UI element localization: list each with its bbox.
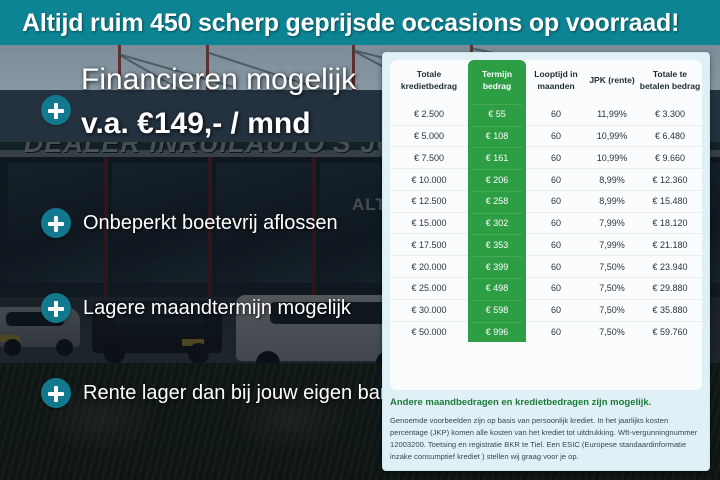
cell-looptijd: 60 — [526, 147, 586, 169]
plus-icon — [41, 378, 71, 408]
table-row: € 50.000€ 996607,50%€ 59.760 — [390, 321, 702, 342]
cell-krediet: € 12.500 — [390, 190, 468, 212]
benefit-item-2: Lagere maandtermijn mogelijk — [41, 293, 351, 323]
cell-jkp: 8,99% — [586, 169, 638, 191]
table-row: € 7.500€ 1616010,99%€ 9.660 — [390, 147, 702, 169]
cell-totaal: € 59.760 — [638, 321, 702, 342]
cell-termijn: € 353 — [468, 234, 526, 256]
cell-looptijd: 60 — [526, 321, 586, 342]
benefit-label: Rente lager dan bij jouw eigen bank — [83, 382, 401, 405]
cell-termijn: € 996 — [468, 321, 526, 342]
cell-termijn: € 55 — [468, 103, 526, 125]
cell-krediet: € 50.000 — [390, 321, 468, 342]
plus-icon — [41, 293, 71, 323]
column-header-totaal: Totale te betalen bedrag — [638, 60, 702, 103]
table-row: € 15.000€ 302607,99%€ 18.120 — [390, 212, 702, 234]
top-banner: Altijd ruim 450 scherp geprijsde occasio… — [0, 0, 720, 45]
table-row: € 2.500€ 556011,99%€ 3.300 — [390, 103, 702, 125]
cell-krediet: € 5.000 — [390, 125, 468, 147]
cell-krediet: € 25.000 — [390, 278, 468, 300]
cell-totaal: € 3.300 — [638, 103, 702, 125]
cell-jkp: 7,50% — [586, 256, 638, 278]
cell-krediet: € 15.000 — [390, 212, 468, 234]
cell-jkp: 7,99% — [586, 234, 638, 256]
disclaimer-body: Genoemde voorbeelden zijn op basis van p… — [390, 415, 702, 462]
table-row: € 25.000€ 498607,50%€ 29.880 — [390, 278, 702, 300]
cell-totaal: € 9.660 — [638, 147, 702, 169]
cell-jkp: 10,99% — [586, 125, 638, 147]
cell-jkp: 7,50% — [586, 299, 638, 321]
cell-looptijd: 60 — [526, 169, 586, 191]
table-row: € 20.000€ 399607,50%€ 23.940 — [390, 256, 702, 278]
cell-totaal: € 12.360 — [638, 169, 702, 191]
benefit-item-1: Onbeperkt boetevrij aflossen — [41, 208, 338, 238]
cell-krediet: € 2.500 — [390, 103, 468, 125]
hero-line-1: Financieren mogelijk — [81, 63, 356, 97]
cell-termijn: € 498 — [468, 278, 526, 300]
credit-rate-table: Totale kredietbedrag Termijn bedrag Loop… — [390, 60, 702, 342]
cell-totaal: € 29.880 — [638, 278, 702, 300]
cell-jkp: 7,99% — [586, 212, 638, 234]
cell-termijn: € 108 — [468, 125, 526, 147]
cell-jkp: 7,50% — [586, 321, 638, 342]
cell-krediet: € 30.000 — [390, 299, 468, 321]
cell-krediet: € 7.500 — [390, 147, 468, 169]
table-row: € 30.000€ 598607,50%€ 35.880 — [390, 299, 702, 321]
cell-termijn: € 206 — [468, 169, 526, 191]
cell-termijn: € 161 — [468, 147, 526, 169]
cell-krediet: € 17.500 — [390, 234, 468, 256]
cell-krediet: € 10.000 — [390, 169, 468, 191]
cell-jkp: 7,50% — [586, 278, 638, 300]
cell-looptijd: 60 — [526, 234, 586, 256]
benefits-column: Financieren mogelijk v.a. €149,- / mnd O… — [0, 45, 385, 480]
cell-totaal: € 23.940 — [638, 256, 702, 278]
cell-looptijd: 60 — [526, 256, 586, 278]
cell-looptijd: 60 — [526, 103, 586, 125]
cell-termijn: € 302 — [468, 212, 526, 234]
table-body: € 2.500€ 556011,99%€ 3.300€ 5.000€ 10860… — [390, 103, 702, 342]
hero-line-2: v.a. €149,- / mnd — [81, 107, 311, 141]
cell-looptijd: 60 — [526, 190, 586, 212]
cell-termijn: € 598 — [468, 299, 526, 321]
column-header-termijn: Termijn bedrag — [468, 60, 526, 103]
column-header-jkp: JPK (rente) — [586, 60, 638, 103]
cell-looptijd: 60 — [526, 299, 586, 321]
cell-jkp: 11,99% — [586, 103, 638, 125]
cell-looptijd: 60 — [526, 125, 586, 147]
disclaimer-heading: Andere maandbedragen en kredietbedragen … — [390, 397, 702, 409]
cell-jkp: 10,99% — [586, 147, 638, 169]
cell-krediet: € 20.000 — [390, 256, 468, 278]
benefit-label: Onbeperkt boetevrij aflossen — [83, 212, 338, 235]
cell-totaal: € 18.120 — [638, 212, 702, 234]
cell-totaal: € 35.880 — [638, 299, 702, 321]
cell-totaal: € 21.180 — [638, 234, 702, 256]
cell-looptijd: 60 — [526, 278, 586, 300]
table-row: € 10.000€ 206608,99%€ 12.360 — [390, 169, 702, 191]
rate-table-card: Totale kredietbedrag Termijn bedrag Loop… — [390, 60, 702, 390]
table-row: € 12.500€ 258608,99%€ 15.480 — [390, 190, 702, 212]
cell-totaal: € 6.480 — [638, 125, 702, 147]
advert-banner: DEALER INRUILAUTO'S JOHAN MEURE ALTIJD 4… — [0, 0, 720, 480]
table-row: € 5.000€ 1086010,99%€ 6.480 — [390, 125, 702, 147]
table-row: € 17.500€ 353607,99%€ 21.180 — [390, 234, 702, 256]
column-header-looptijd: Looptijd in maanden — [526, 60, 586, 103]
benefit-label: Lagere maandtermijn mogelijk — [83, 297, 351, 320]
credit-table-panel: Totale kredietbedrag Termijn bedrag Loop… — [382, 52, 710, 471]
plus-icon — [41, 95, 71, 125]
table-header-row: Totale kredietbedrag Termijn bedrag Loop… — [390, 60, 702, 103]
benefit-item-3: Rente lager dan bij jouw eigen bank — [41, 378, 401, 408]
cell-looptijd: 60 — [526, 212, 586, 234]
cell-termijn: € 258 — [468, 190, 526, 212]
banner-headline: Altijd ruim 450 scherp geprijsde occasio… — [22, 9, 712, 38]
plus-icon — [41, 208, 71, 238]
column-header-krediet: Totale kredietbedrag — [390, 60, 468, 103]
cell-termijn: € 399 — [468, 256, 526, 278]
cell-jkp: 8,99% — [586, 190, 638, 212]
disclaimer-block: Andere maandbedragen en kredietbedragen … — [390, 397, 702, 462]
cell-totaal: € 15.480 — [638, 190, 702, 212]
